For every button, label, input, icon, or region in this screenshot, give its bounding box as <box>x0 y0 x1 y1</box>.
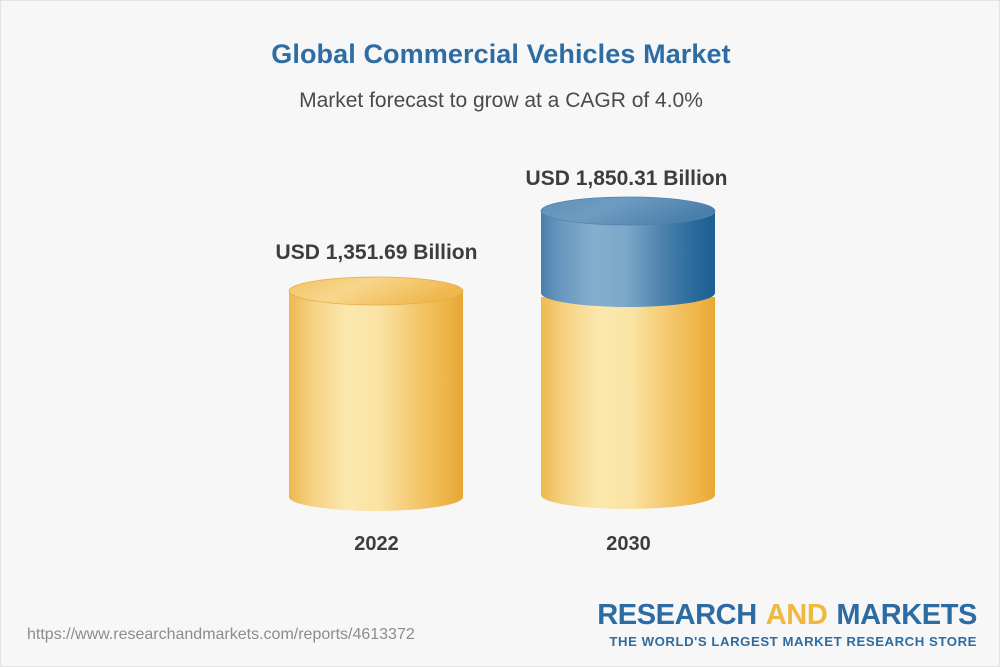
plot-area: USD 1,351.69 Billion USD 1,850.31 Billio… <box>1 1 1000 601</box>
brand-tagline: THE WORLD'S LARGEST MARKET RESEARCH STOR… <box>597 635 977 648</box>
bar-cylinder-2022[interactable] <box>281 273 471 521</box>
brand-word-research: RESEARCH <box>597 599 757 631</box>
brand-logo[interactable]: RESEARCHANDMARKETS THE WORLD'S LARGEST M… <box>597 601 977 648</box>
brand-word-markets: MARKETS <box>836 599 977 631</box>
cylinder-body-2022 <box>289 291 463 511</box>
bar-cylinder-2030[interactable] <box>533 193 723 521</box>
category-label-2022: 2022 <box>284 533 469 556</box>
value-label-2030: USD 1,850.31 Billion <box>434 167 819 191</box>
source-url-link[interactable]: https://www.researchandmarkets.com/repor… <box>27 626 415 644</box>
cylinder-body-gold-2030 <box>541 297 715 509</box>
cylinder-top-2022 <box>289 277 463 305</box>
cylinder-top-2030 <box>541 197 715 225</box>
category-label-2030: 2030 <box>536 533 721 556</box>
brand-word-and: AND <box>766 599 828 631</box>
chart-canvas: Global Commercial Vehicles Market Market… <box>0 0 1000 667</box>
brand-wordmark: RESEARCHANDMARKETS <box>597 601 977 630</box>
value-label-2022: USD 1,351.69 Billion <box>184 241 569 265</box>
